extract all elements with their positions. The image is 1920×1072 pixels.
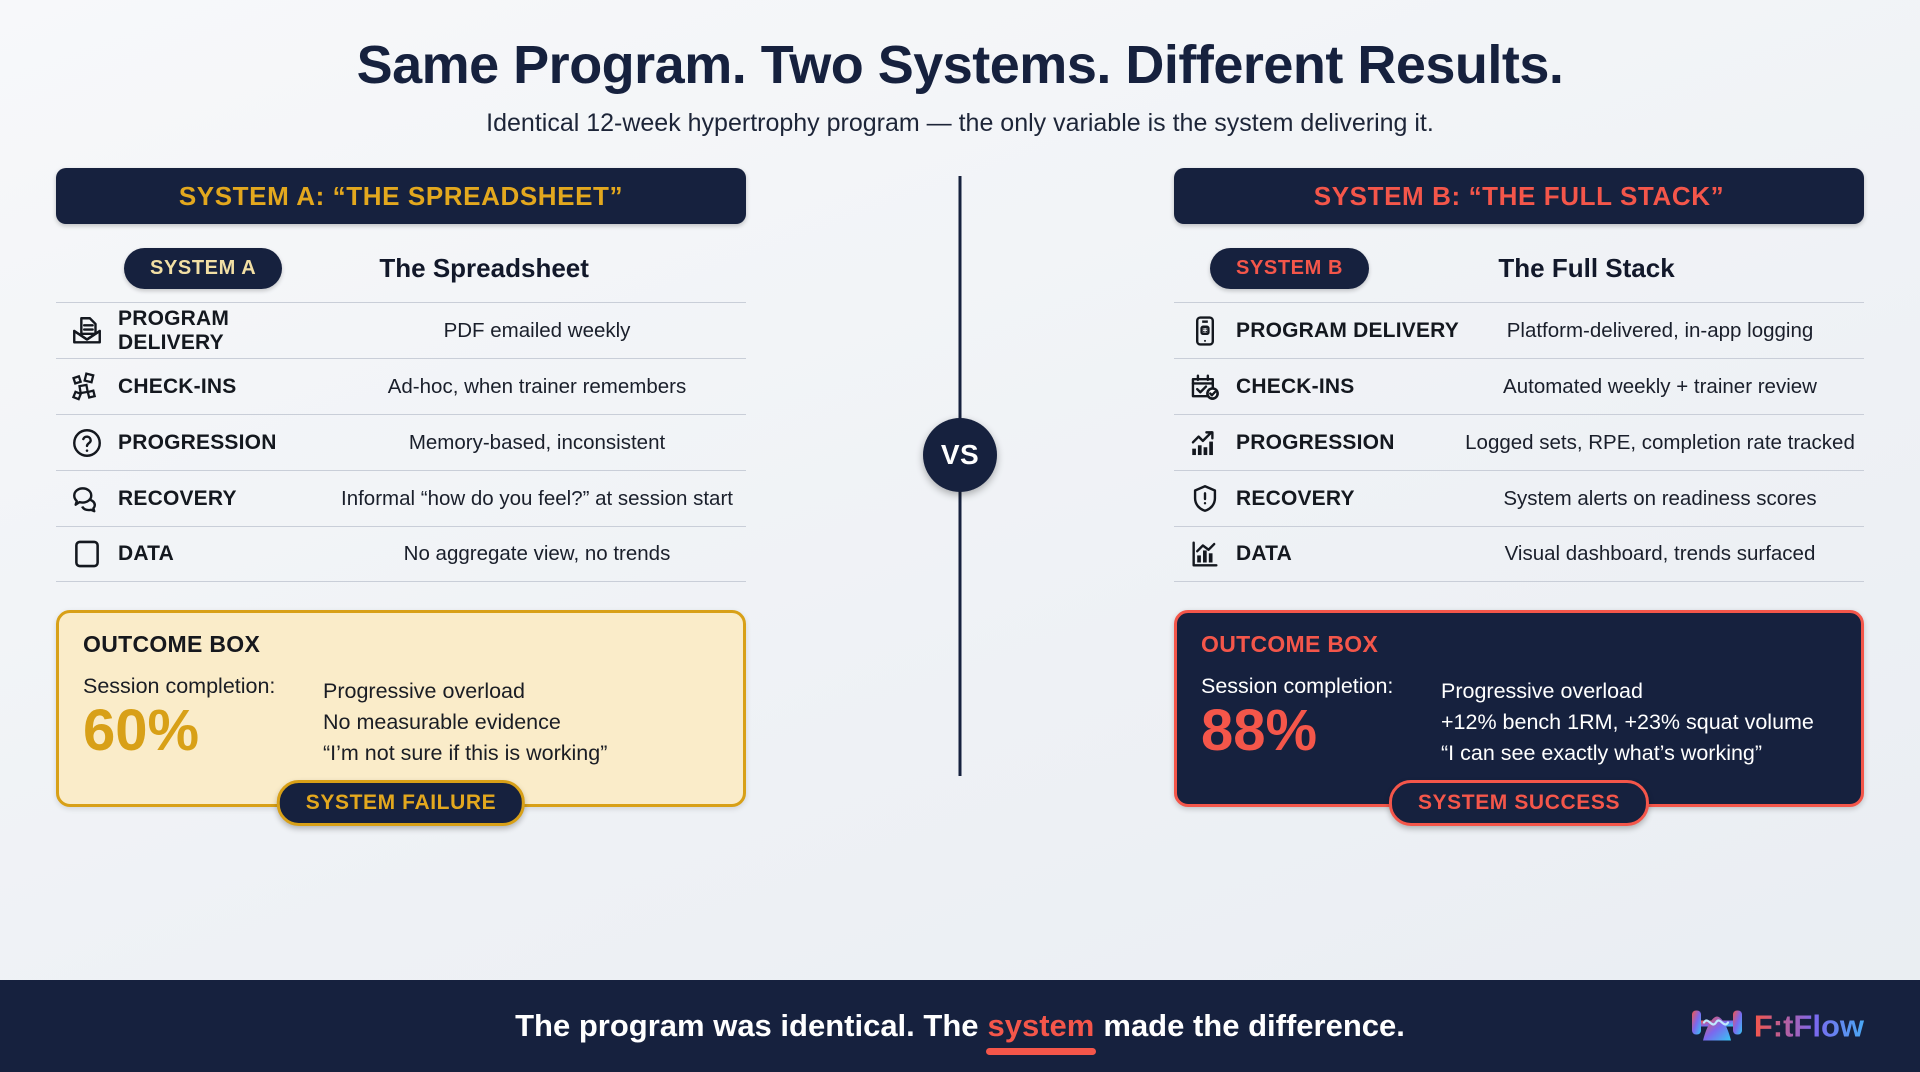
footer-part-1: The program was identical. The [515, 1008, 978, 1044]
table-row: PROGRESSION Memory-based, inconsistent [56, 414, 746, 470]
table-row: RECOVERY Informal “how do you feel?” at … [56, 470, 746, 526]
system-b-subhead: SYSTEM B The Full Stack [1174, 244, 1864, 292]
outcome-notes: Progressive overload +12% bench 1RM, +23… [1441, 674, 1837, 770]
system-b-band-text: SYSTEM B: “THE FULL STACK” [1314, 181, 1724, 212]
row-value: Visual dashboard, trends surfaced [1464, 542, 1864, 566]
metric-label: Session completion: [1201, 674, 1441, 699]
table-row: DATA Visual dashboard, trends surfaced [1174, 526, 1864, 582]
outcome-title: OUTCOME BOX [1201, 631, 1837, 658]
system-b-rows: PROGRAM DELIVERY Platform-delivered, in-… [1174, 302, 1864, 582]
question-circle-icon [56, 426, 118, 460]
system-a-rows: PROGRAM DELIVERY PDF emailed weekly CH [56, 302, 746, 582]
outcome-note: Progressive overload [1441, 676, 1837, 707]
system-a-band: SYSTEM A: “THE SPREADSHEET” [56, 168, 746, 224]
outcome-note: No measurable evidence [323, 707, 719, 738]
row-value: No aggregate view, no trends [336, 542, 746, 566]
footer-highlight: system [988, 1008, 1095, 1044]
outcome-metric: Session completion: 60% [83, 674, 323, 770]
footer-bar: The program was identical. The system ma… [0, 980, 1920, 1072]
system-b-column: SYSTEM B: “THE FULL STACK” SYSTEM B The … [1174, 168, 1864, 807]
metric-value: 88% [1201, 701, 1441, 762]
calendar-check-icon [1174, 370, 1236, 404]
row-label: DATA [1236, 542, 1464, 566]
system-a-outcome-box: OUTCOME BOX Session completion: 60% Prog… [56, 610, 746, 807]
comparison-columns: SYSTEM A: “THE SPREADSHEET” SYSTEM A The… [0, 168, 1920, 807]
row-label: RECOVERY [118, 487, 336, 511]
system-a-subhead: SYSTEM A The Spreadsheet [56, 244, 746, 292]
outcome-notes: Progressive overload No measurable evide… [323, 674, 719, 770]
row-value: Platform-delivered, in-app logging [1464, 319, 1864, 343]
system-b-band: SYSTEM B: “THE FULL STACK” [1174, 168, 1864, 224]
mobile-phone-icon [1174, 314, 1236, 348]
system-a-verdict-badge: SYSTEM FAILURE [277, 780, 525, 826]
row-label: CHECK-INS [1236, 375, 1464, 399]
fitflow-mark-icon [1690, 999, 1744, 1054]
outcome-note: “I’m not sure if this is working” [323, 738, 719, 769]
footer-message: The program was identical. The system ma… [515, 1008, 1405, 1044]
table-row: PROGRAM DELIVERY PDF emailed weekly [56, 302, 746, 358]
alert-shield-icon [1174, 482, 1236, 516]
table-row: CHECK-INS Automated weekly + trainer rev… [1174, 358, 1864, 414]
system-a-band-text: SYSTEM A: “THE SPREADSHEET” [179, 181, 623, 212]
fitflow-wordmark: F:tFlow [1754, 1008, 1864, 1044]
metric-value: 60% [83, 701, 323, 762]
row-label: PROGRESSION [118, 431, 336, 455]
system-b-verdict-badge: SYSTEM SUCCESS [1389, 780, 1649, 826]
row-value: Automated weekly + trainer review [1464, 375, 1864, 399]
system-a-column: SYSTEM A: “THE SPREADSHEET” SYSTEM A The… [56, 168, 746, 807]
outcome-note: Progressive overload [323, 676, 719, 707]
table-row: DATA No aggregate view, no trends [56, 526, 746, 582]
row-value: System alerts on readiness scores [1464, 487, 1864, 511]
row-label: PROGRAM DELIVERY [118, 307, 336, 355]
table-row: PROGRESSION Logged sets, RPE, completion… [1174, 414, 1864, 470]
scattered-papers-icon [56, 370, 118, 404]
brand-logo: F:tFlow [1690, 999, 1864, 1054]
row-label: CHECK-INS [118, 375, 336, 399]
row-value: Informal “how do you feel?” at session s… [336, 487, 746, 511]
outcome-body: Session completion: 88% Progressive over… [1201, 674, 1837, 770]
chart-arrow-up-icon [1174, 426, 1236, 460]
header: Same Program. Two Systems. Different Res… [0, 0, 1920, 138]
row-label: PROGRAM DELIVERY [1236, 319, 1464, 343]
system-b-outcome-box: OUTCOME BOX Session completion: 88% Prog… [1174, 610, 1864, 807]
table-row: RECOVERY System alerts on readiness scor… [1174, 470, 1864, 526]
row-label: RECOVERY [1236, 487, 1464, 511]
outcome-note: +12% bench 1RM, +23% squat volume [1441, 707, 1837, 738]
system-b-pill: SYSTEM B [1210, 248, 1369, 289]
row-value: Memory-based, inconsistent [336, 431, 746, 455]
empty-square-icon [56, 537, 118, 571]
system-a-pill: SYSTEM A [124, 248, 282, 289]
outcome-note: “I can see exactly what’s working” [1441, 738, 1837, 769]
page-title: Same Program. Two Systems. Different Res… [0, 36, 1920, 95]
outcome-body: Session completion: 60% Progressive over… [83, 674, 719, 770]
table-row: CHECK-INS Ad-hoc, when trainer remembers [56, 358, 746, 414]
row-value: PDF emailed weekly [336, 319, 746, 343]
system-a-name: The Spreadsheet [282, 253, 686, 284]
system-b-name: The Full Stack [1369, 253, 1804, 284]
row-label: PROGRESSION [1236, 431, 1464, 455]
bar-chart-icon [1174, 537, 1236, 571]
table-row: PROGRAM DELIVERY Platform-delivered, in-… [1174, 302, 1864, 358]
row-label: DATA [118, 542, 336, 566]
footer-part-2: made the difference. [1103, 1008, 1404, 1044]
metric-label: Session completion: [83, 674, 323, 699]
outcome-metric: Session completion: 88% [1201, 674, 1441, 770]
speech-bubbles-icon [56, 482, 118, 516]
infographic-page: Same Program. Two Systems. Different Res… [0, 0, 1920, 1072]
outcome-title: OUTCOME BOX [83, 631, 719, 658]
envelope-document-icon [56, 314, 118, 348]
page-subtitle: Identical 12-week hypertrophy program — … [0, 109, 1920, 138]
row-value: Logged sets, RPE, completion rate tracke… [1464, 431, 1864, 455]
row-value: Ad-hoc, when trainer remembers [336, 375, 746, 399]
